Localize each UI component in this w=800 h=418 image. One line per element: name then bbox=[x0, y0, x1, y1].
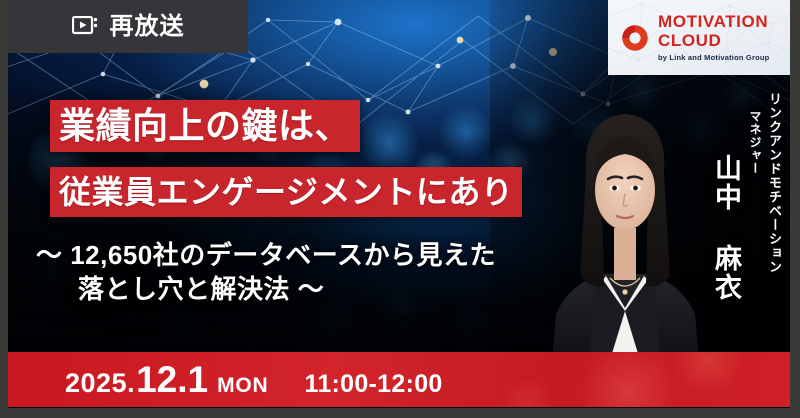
banner-artwork: 再放送 bbox=[8, 0, 790, 408]
speaker-name: 山中 麻衣 bbox=[707, 154, 746, 302]
subtitle-line-1: 〜 12,650社のデータベースから見えた bbox=[36, 238, 496, 272]
speaker-company: リンクアンドモチベーション bbox=[765, 92, 784, 274]
replay-badge: 再放送 bbox=[8, 0, 248, 53]
webinar-banner: 再放送 bbox=[0, 0, 800, 418]
headline-line-2: 従業員エンゲージメントにあり bbox=[50, 167, 522, 217]
schedule-bar: 2025. 12.1 MON 11:00-12:00 bbox=[8, 352, 790, 407]
logo-line-2: CLOUD bbox=[658, 32, 769, 49]
subtitle: 〜 12,650社のデータベースから見えた 落とし穴と解決法 〜 bbox=[36, 238, 496, 307]
speaker-portrait bbox=[538, 78, 713, 360]
headline-line-2-text: 従業員エンゲージメントにあり bbox=[59, 176, 513, 208]
schedule-time: 11:00-12:00 bbox=[305, 370, 443, 399]
schedule-month-day: 12.1 bbox=[136, 359, 208, 401]
subtitle-line-2: 落とし穴と解決法 〜 bbox=[36, 272, 496, 306]
replay-label: 再放送 bbox=[110, 15, 185, 39]
motivation-cloud-ring-icon bbox=[620, 23, 650, 53]
logo-tagline: by Link and Motivation Group bbox=[658, 54, 769, 62]
speaker-credit: 山中 麻衣 マネジャー リンクアンドモチベーション bbox=[707, 92, 784, 342]
brand-logo-panel: MOTIVATION CLOUD by Link and Motivation … bbox=[608, 0, 790, 75]
monitor-play-icon bbox=[72, 16, 99, 37]
headline-line-1: 業績向上の鍵は、 bbox=[50, 100, 360, 152]
logo-line-1: MOTIVATION bbox=[658, 13, 769, 30]
headline-line-1-text: 業績向上の鍵は、 bbox=[59, 108, 351, 144]
speaker-role: マネジャー bbox=[747, 110, 764, 175]
schedule-year: 2025. bbox=[65, 368, 135, 399]
schedule-day-of-week: MON bbox=[217, 374, 268, 398]
